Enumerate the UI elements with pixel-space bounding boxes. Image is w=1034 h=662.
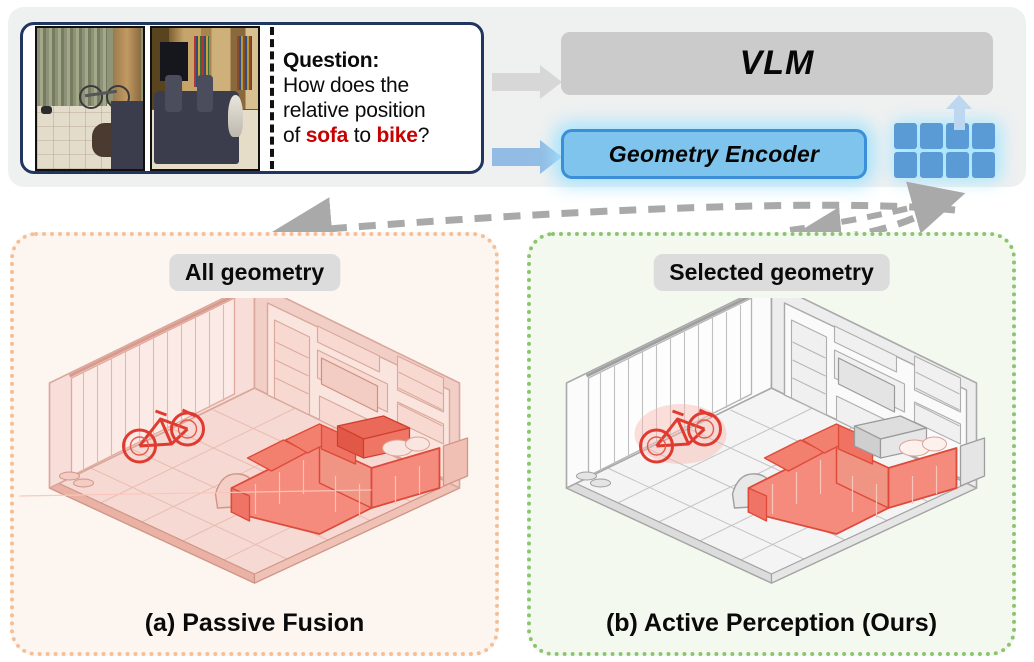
question-line3-pre: of xyxy=(283,124,306,147)
token-block xyxy=(946,152,969,178)
geometry-encoder-box: Geometry Encoder xyxy=(561,129,867,179)
photo-strip xyxy=(35,26,260,171)
token-block xyxy=(920,123,943,149)
caption-b-label: (b) Active Perception (Ours) xyxy=(606,609,937,637)
arrow-question-to-encoder-icon xyxy=(492,140,562,174)
badge-all-geometry-label: All geometry xyxy=(185,259,324,285)
pipeline-panel: Question: How does the relative position… xyxy=(8,7,1026,187)
question-card: Question: How does the relative position… xyxy=(20,22,484,174)
token-block xyxy=(920,152,943,178)
panel-active-perception: Selected geometry xyxy=(527,232,1016,656)
vlm-label: VLM xyxy=(740,44,815,83)
vlm-box: VLM xyxy=(561,32,993,95)
question-line-2: relative position xyxy=(283,98,429,123)
slippers-region xyxy=(41,106,52,113)
cushion-1 xyxy=(165,75,182,112)
object-a-highlight: sofa xyxy=(306,124,348,147)
caption-a-label: (a) Passive Fusion xyxy=(145,609,365,637)
token-block xyxy=(894,152,917,178)
encoder-label: Geometry Encoder xyxy=(609,141,820,168)
scene-selected-geometry xyxy=(531,298,1012,598)
vertical-dashed-divider xyxy=(270,27,274,169)
arrow-question-to-vlm-icon xyxy=(492,65,562,99)
sofa-edge-region xyxy=(111,101,145,169)
question-line-1: How does the xyxy=(283,73,429,98)
badge-all-geometry: All geometry xyxy=(169,254,340,291)
arrow-tokens-to-vlm-icon xyxy=(946,95,972,129)
caption-active-perception: (b) Active Perception (Ours) xyxy=(531,609,1012,638)
scene-all-geometry xyxy=(14,298,495,598)
photo-bike-curtain xyxy=(35,26,145,171)
token-grid xyxy=(894,123,995,178)
cat-region xyxy=(228,95,243,137)
token-block xyxy=(894,123,917,149)
badge-selected-geometry-label: Selected geometry xyxy=(669,259,874,285)
token-block xyxy=(972,152,995,178)
question-line3-mid: to xyxy=(348,124,376,147)
cushion-2 xyxy=(197,75,214,112)
caption-passive-fusion: (a) Passive Fusion xyxy=(14,609,495,638)
question-line-3: of sofa to bike? xyxy=(283,123,429,148)
question-label: Question: xyxy=(283,48,429,73)
question-text: Question: How does the relative position… xyxy=(283,48,429,148)
token-block xyxy=(972,123,995,149)
badge-selected-geometry: Selected geometry xyxy=(653,254,890,291)
photo-sofa-cabinet xyxy=(150,26,260,171)
panel-passive-fusion: All geometry xyxy=(10,232,499,656)
object-b-highlight: bike xyxy=(377,124,418,147)
bookshelf-region-2 xyxy=(237,36,252,90)
question-line3-post: ? xyxy=(418,124,429,147)
